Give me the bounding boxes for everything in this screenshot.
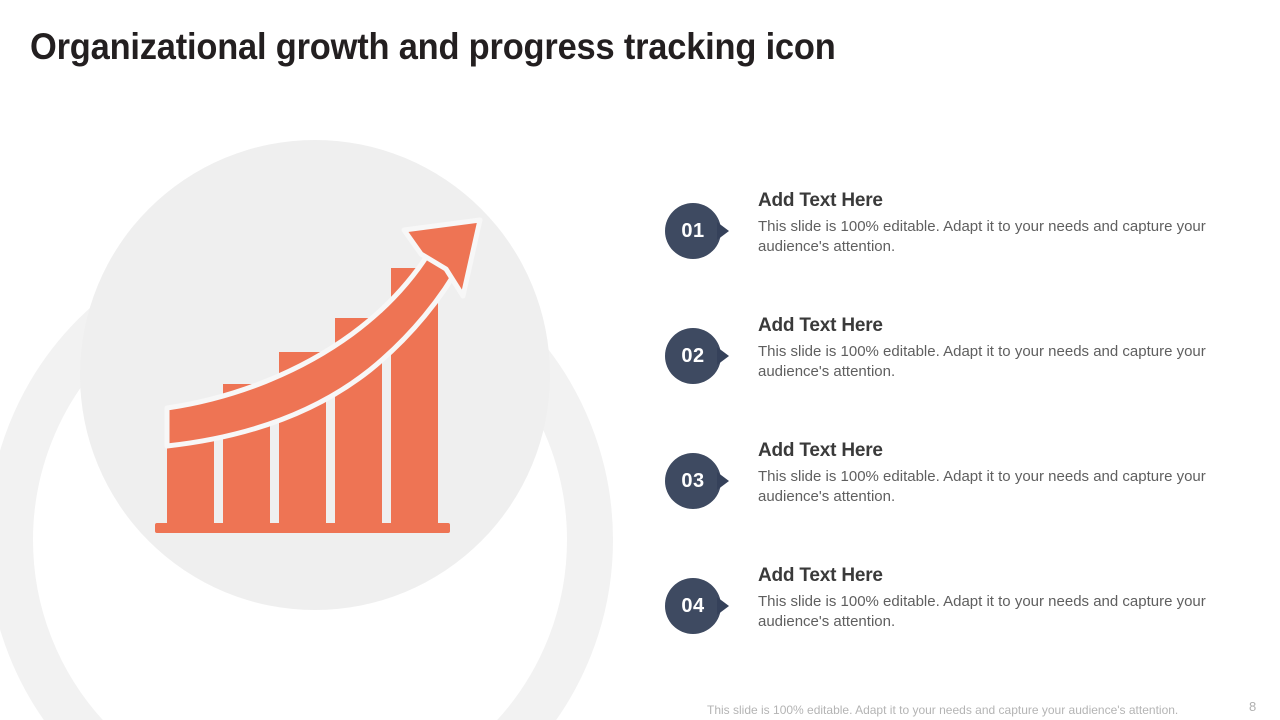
badge-02[interactable]: 02 bbox=[665, 328, 740, 388]
list-item[interactable]: 01 Add Text Here This slide is 100% edit… bbox=[665, 190, 1225, 315]
item-heading: Add Text Here bbox=[758, 190, 1213, 212]
list-item[interactable]: 03 Add Text Here This slide is 100% edit… bbox=[665, 440, 1225, 565]
triangle-right-icon bbox=[717, 222, 729, 240]
page-number: 8 bbox=[1249, 699, 1256, 714]
item-heading: Add Text Here bbox=[758, 565, 1213, 587]
footer-note: This slide is 100% editable. Adapt it to… bbox=[707, 703, 1178, 717]
item-body: This slide is 100% editable. Adapt it to… bbox=[758, 342, 1213, 382]
item-text-block: Add Text Here This slide is 100% editabl… bbox=[758, 315, 1213, 381]
badge-number-circle: 01 bbox=[665, 203, 721, 259]
badge-04[interactable]: 04 bbox=[665, 578, 740, 638]
item-text-block: Add Text Here This slide is 100% editabl… bbox=[758, 190, 1213, 256]
item-text-block: Add Text Here This slide is 100% editabl… bbox=[758, 440, 1213, 506]
item-body: This slide is 100% editable. Adapt it to… bbox=[758, 467, 1213, 507]
item-heading: Add Text Here bbox=[758, 440, 1213, 462]
triangle-right-icon bbox=[717, 347, 729, 365]
item-text-block: Add Text Here This slide is 100% editabl… bbox=[758, 565, 1213, 631]
numbered-items-list: 01 Add Text Here This slide is 100% edit… bbox=[665, 190, 1225, 690]
triangle-right-icon bbox=[717, 472, 729, 490]
item-body: This slide is 100% editable. Adapt it to… bbox=[758, 217, 1213, 257]
badge-number-circle: 04 bbox=[665, 578, 721, 634]
item-heading: Add Text Here bbox=[758, 315, 1213, 337]
badge-01[interactable]: 01 bbox=[665, 203, 740, 263]
badge-number-circle: 02 bbox=[665, 328, 721, 384]
chart-baseline bbox=[155, 523, 450, 533]
badge-03[interactable]: 03 bbox=[665, 453, 740, 513]
triangle-right-icon bbox=[717, 597, 729, 615]
item-body: This slide is 100% editable. Adapt it to… bbox=[758, 592, 1213, 632]
list-item[interactable]: 02 Add Text Here This slide is 100% edit… bbox=[665, 315, 1225, 440]
page-title: Organizational growth and progress track… bbox=[30, 26, 836, 68]
growth-chart-illustration bbox=[0, 120, 660, 720]
list-item[interactable]: 04 Add Text Here This slide is 100% edit… bbox=[665, 565, 1225, 690]
badge-number-circle: 03 bbox=[665, 453, 721, 509]
